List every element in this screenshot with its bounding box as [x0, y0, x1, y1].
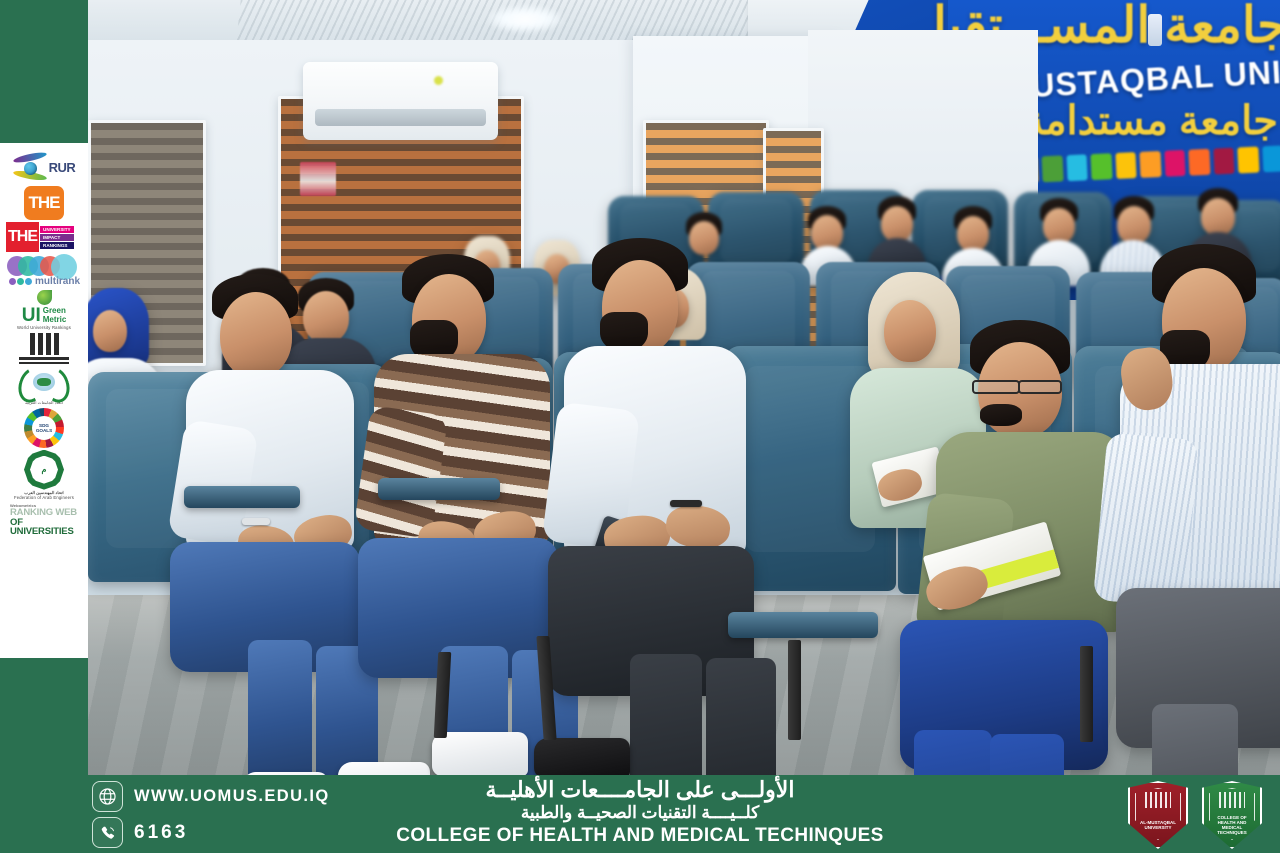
leg: [630, 654, 702, 775]
seat-armrest: [184, 486, 300, 508]
rur-swoosh-icon: [13, 152, 47, 182]
head: [93, 310, 127, 352]
college-name-english: COLLEGE OF HEALTH AND MEDICAL TECHINQUES: [0, 824, 1280, 849]
head: [1201, 198, 1235, 236]
fae-caption-en: Federation of Arab Engineers: [14, 496, 74, 501]
webometrics-logo: Webometrics RANKING WEB OF UNIVERSITIES: [5, 503, 83, 537]
leaf-globe-icon: [37, 290, 52, 305]
footer-logo-group: AL-MUSTAQBAL UNIVERSITY COLLEGE OF HEALT…: [1128, 781, 1262, 849]
leg: [914, 730, 992, 775]
seat-leg: [788, 640, 801, 740]
multirank-dot: [9, 278, 16, 285]
sdg-tile: [1090, 153, 1112, 180]
sdg-tile: [1188, 149, 1210, 176]
sdg-tile: [1164, 150, 1186, 177]
greenmetric-line-2: Metric: [43, 316, 67, 324]
shield-caption: AL-MUSTAQBAL UNIVERSITY: [1130, 821, 1186, 831]
head: [1043, 208, 1075, 244]
rur-ranking-logo: RUR: [5, 150, 83, 184]
head: [1117, 206, 1151, 244]
sdg-tile: [1237, 147, 1259, 174]
head: [220, 292, 292, 378]
ui-wordmark: UI: [22, 306, 41, 325]
multirank-dot: [25, 278, 32, 285]
wristwatch: [242, 518, 270, 525]
eyeglasses: [1018, 380, 1062, 394]
impact-line-3: RANKINGS: [40, 242, 74, 249]
shield-crest: [1219, 792, 1245, 808]
wall-sign-arabic-bottom: جامعة مستدامة: [1024, 98, 1278, 144]
seat-armrest: [378, 478, 500, 500]
head: [303, 291, 349, 343]
globe-icon: [24, 162, 37, 175]
the-ranking-logo: THE: [5, 186, 83, 220]
head: [957, 216, 989, 252]
column-base: [19, 362, 69, 364]
multirank-wordmark: multirank: [35, 276, 80, 287]
laurel-wreath-icon: [17, 366, 71, 400]
tagline-arabic: الأولـــى على الجامــــعات الأهليــة: [0, 777, 1280, 802]
u-multirank-logo: multirank: [5, 254, 83, 288]
multirank-dot: [17, 278, 24, 285]
the-orange-badge: THE: [24, 186, 64, 220]
columns-icon: [19, 333, 69, 355]
leg: [248, 640, 312, 775]
sdg-tile: [1042, 155, 1064, 182]
leg: [990, 734, 1064, 775]
ui-greenmetric-logo: UI Green Metric World University Ranking…: [5, 290, 83, 331]
shield-crest: [1145, 792, 1171, 808]
column-base: [19, 357, 69, 360]
sneaker: [432, 732, 528, 775]
sdg-tile: [1262, 145, 1280, 172]
footer-titles: الأولـــى على الجامــــعات الأهليــة كلـ…: [0, 777, 1280, 849]
emblem-letter: م: [30, 456, 58, 484]
sdg-tile: [1213, 148, 1235, 175]
seat-leg: [1080, 646, 1093, 742]
sdg-tile: [1139, 151, 1161, 178]
ceiling-light: [488, 6, 562, 32]
left-green-band: RUR THE THE UNIVERSITY IMPACT RANKINGS: [0, 0, 88, 775]
accreditation-logo-strip: RUR THE THE UNIVERSITY IMPACT RANKINGS: [0, 143, 88, 658]
sdg-tile: [1115, 152, 1137, 179]
wall-edge-highlight: [1148, 14, 1162, 46]
impact-line-1: UNIVERSITY: [40, 226, 74, 233]
ac-vent: [315, 109, 487, 126]
impact-line-2: IMPACT: [40, 234, 74, 241]
college-shield-green: COLLEGE OF HEALTH AND MEDICAL TECHNIQUES: [1202, 781, 1262, 849]
dress-shoe: [534, 738, 630, 775]
wristwatch: [670, 500, 702, 507]
sdg-color-wheel-icon: SDG GOALS: [24, 408, 64, 448]
leg: [1152, 704, 1238, 775]
sneaker: [338, 762, 430, 775]
sdg-goals-logo: SDG GOALS: [5, 408, 83, 448]
association-arab-universities-logo: اتحاد الجامعات العربية: [5, 366, 83, 406]
moustache: [980, 404, 1022, 426]
shield-caption: COLLEGE OF HEALTH AND MEDICAL TECHNIQUES: [1204, 816, 1260, 836]
webometrics-line-2: OF UNIVERSITIES: [10, 518, 83, 537]
air-conditioner-unit: [303, 62, 498, 140]
the-impact-rankings-logo: THE UNIVERSITY IMPACT RANKINGS: [5, 222, 83, 252]
wall-notice-sign: [300, 162, 336, 196]
arm: [1093, 432, 1199, 607]
head: [689, 221, 719, 255]
head: [884, 300, 936, 362]
poster-root: جامعة المســـتقبل AL-MUSTAQBAL UNI جامعة…: [0, 0, 1280, 853]
the-wordmark: THE: [6, 222, 39, 252]
poster-footer: WWW.UOMUS.EDU.IQ 6163 الأولـــى على الجا…: [0, 775, 1280, 853]
federation-arab-engineers-logo: م اتحاد المهندسين العرب Federation of Ar…: [5, 450, 83, 502]
event-photograph: جامعة المســـتقبل AL-MUSTAQBAL UNI جامعة…: [88, 0, 1280, 775]
leg: [706, 658, 776, 775]
unesco-columns-logo: [5, 333, 83, 364]
college-name-arabic: كلــيــــة التقنيات الصحيــة والطبية: [0, 802, 1280, 824]
head: [881, 206, 913, 242]
the-wordmark: THE: [29, 193, 60, 213]
eyeglasses: [972, 380, 1020, 394]
greenmetric-caption: World University Rankings: [17, 326, 71, 331]
university-shield-red: AL-MUSTAQBAL UNIVERSITY: [1128, 781, 1188, 849]
octagon-emblem-icon: م: [24, 450, 64, 490]
ac-led-indicator: [434, 76, 443, 85]
rur-wordmark: RUR: [49, 160, 76, 175]
seat-armrest: [728, 612, 878, 638]
sdg-tile: [1066, 154, 1088, 181]
sdg-label: SDG GOALS: [32, 416, 56, 440]
